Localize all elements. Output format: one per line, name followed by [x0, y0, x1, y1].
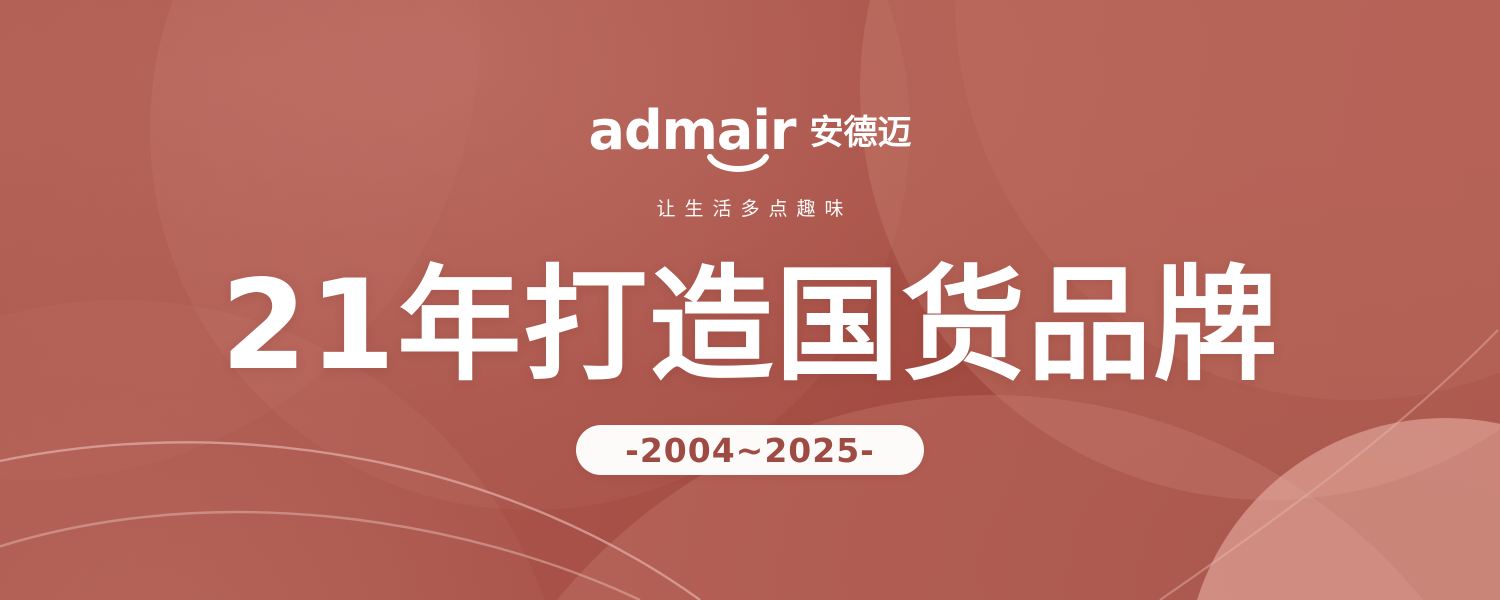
banner-content: admair 安德迈 让生活多点趣味 21年打造国货品牌 -2004~2025- — [0, 0, 1500, 600]
logo-brand-cn: 安德迈 — [809, 112, 911, 158]
smile-curve-icon — [707, 154, 769, 174]
year-range-badge: -2004~2025- — [576, 425, 924, 475]
page-title: 21年打造国货品牌 — [221, 263, 1280, 389]
brand-logo: admair 安德迈 — [589, 100, 912, 158]
year-range-text: -2004~2025- — [625, 434, 875, 467]
promo-banner: admair 安德迈 让生活多点趣味 21年打造国货品牌 -2004~2025- — [0, 0, 1500, 600]
brand-tagline: 让生活多点趣味 — [647, 194, 852, 221]
logo-wordmark: admair — [589, 104, 796, 158]
